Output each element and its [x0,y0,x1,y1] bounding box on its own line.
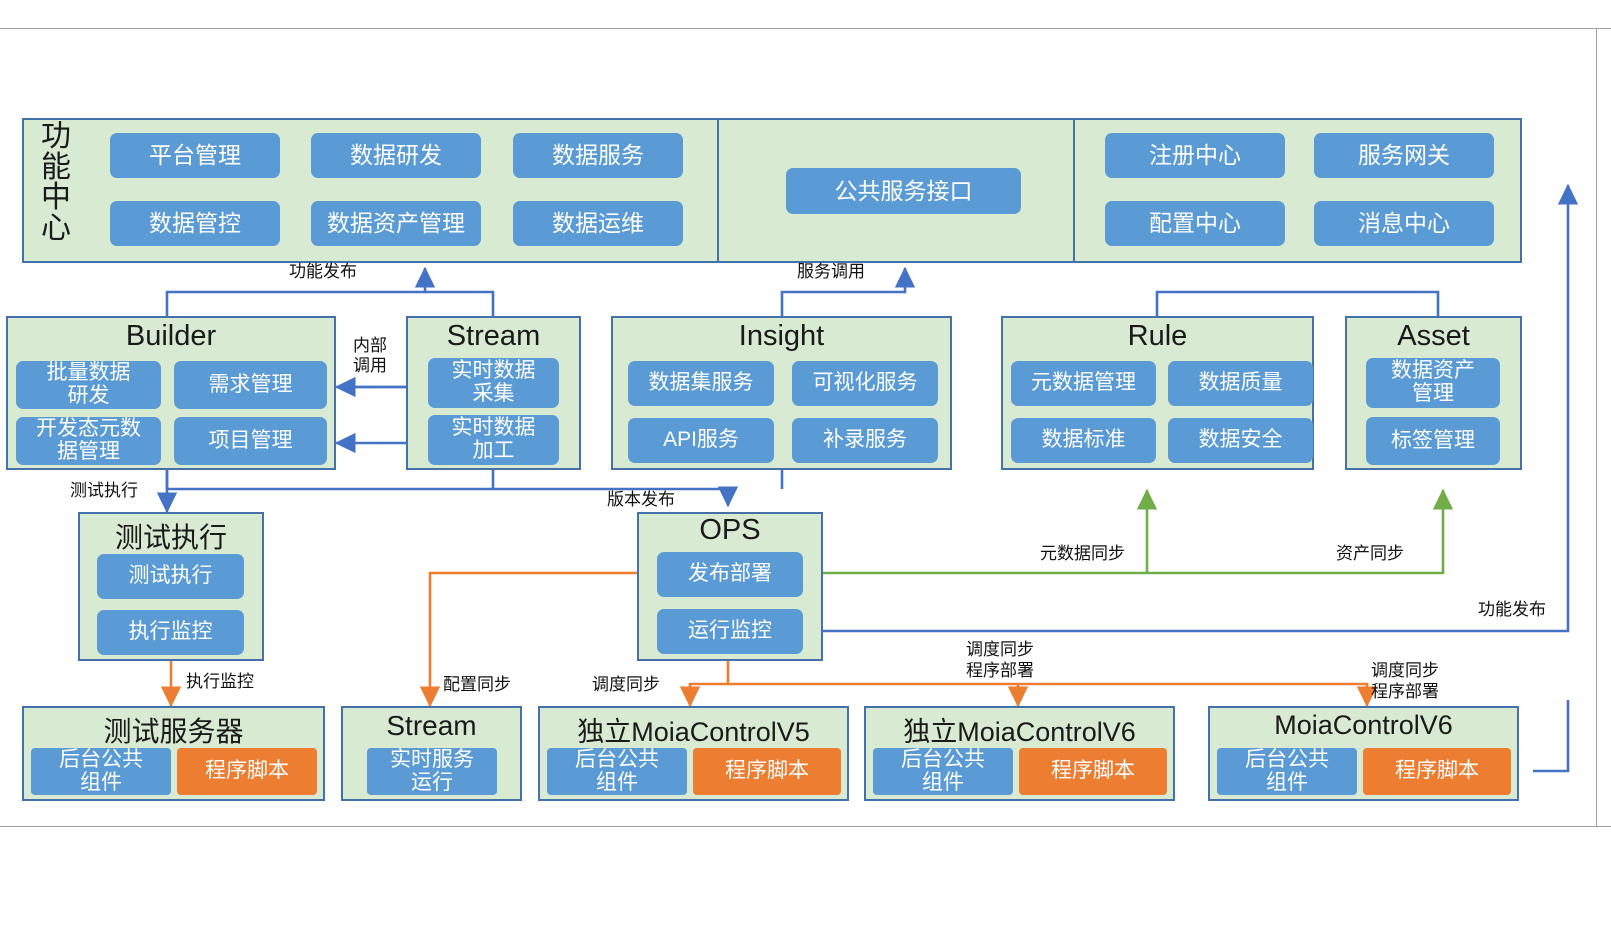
chip-service-gateway[interactable]: 服务网关 [1314,133,1494,178]
edge-label-metadata-sync: 元数据同步 [1040,544,1125,564]
edge-label-service-call: 服务调用 [797,262,865,282]
chip-batch-data-development[interactable]: 批量数据 研发 [16,361,161,409]
chip-program-script-4[interactable]: 程序脚本 [1363,748,1511,795]
chip-execution-monitor[interactable]: 执行监控 [97,610,244,655]
edge-label-schedule-sync-deploy: 调度同步 程序部署 [966,639,1034,682]
edge-label-internal-call: 内部 调用 [341,336,399,376]
chip-data-service[interactable]: 数据服务 [513,133,683,178]
module-insight-title: Insight [611,320,952,353]
chip-data-control[interactable]: 数据管控 [110,201,280,246]
chip-project-management[interactable]: 项目管理 [174,417,327,465]
chip-data-asset-mgmt[interactable]: 数据资产 管理 [1366,358,1500,408]
edge-label-function-publish-right: 功能发布 [1478,600,1546,620]
chip-data-security[interactable]: 数据安全 [1168,418,1313,463]
chip-dev-metadata-management[interactable]: 开发态元数 据管理 [16,417,161,465]
module-stream-title: Stream [406,320,581,353]
chip-requirement-management[interactable]: 需求管理 [174,361,327,409]
module-test-execution-title: 测试执行 [78,516,264,556]
server-stream-title: Stream [341,710,522,742]
chip-realtime-data-processing[interactable]: 实时数据 加工 [428,415,559,465]
function-center-divider-1 [717,120,719,261]
chip-test-execution[interactable]: 测试执行 [97,554,244,599]
chip-dataset-service[interactable]: 数据集服务 [628,361,774,406]
chip-supplement-service[interactable]: 补录服务 [792,418,938,463]
edge-label-schedule-sync: 调度同步 [592,675,660,695]
function-center-title: 功能中心 [33,122,79,244]
chip-program-script-1[interactable]: 程序脚本 [177,748,317,795]
module-asset-title: Asset [1345,320,1522,353]
module-ops-title: OPS [637,514,823,547]
chip-data-operations[interactable]: 数据运维 [513,201,683,246]
chip-program-script-3[interactable]: 程序脚本 [1019,748,1167,795]
chip-config-center[interactable]: 配置中心 [1105,201,1285,246]
chip-tag-management[interactable]: 标签管理 [1366,417,1500,465]
chip-backend-common-component-1[interactable]: 后台公共 组件 [31,748,171,795]
chip-program-script-2[interactable]: 程序脚本 [693,748,841,795]
chip-data-standard[interactable]: 数据标准 [1011,418,1156,463]
chip-public-service-interface[interactable]: 公共服务接口 [786,168,1021,214]
frame-right-line [1596,28,1597,826]
server-test-server-title: 测试服务器 [22,710,325,750]
chip-data-asset-management[interactable]: 数据资产管理 [311,201,481,246]
chip-backend-common-component-2[interactable]: 后台公共 组件 [547,748,687,795]
chip-platform-management[interactable]: 平台管理 [110,133,280,178]
chip-realtime-data-collection[interactable]: 实时数据 采集 [428,358,559,408]
edge-label-schedule-sync-deploy-2: 调度同步 程序部署 [1371,660,1439,703]
module-builder-title: Builder [6,320,336,353]
frame-top-line [0,28,1611,29]
edge-label-execute-monitor: 执行监控 [186,672,254,692]
function-center-divider-2 [1073,120,1075,261]
chip-visualization-service[interactable]: 可视化服务 [792,361,938,406]
chip-api-service[interactable]: API服务 [628,418,774,463]
module-rule-title: Rule [1001,320,1314,353]
frame-bottom-line [0,826,1611,827]
chip-backend-common-component-4[interactable]: 后台公共 组件 [1217,748,1357,795]
chip-runtime-monitor[interactable]: 运行监控 [657,609,803,654]
chip-registry-center[interactable]: 注册中心 [1105,133,1285,178]
chip-data-development[interactable]: 数据研发 [311,133,481,178]
edge-label-function-publish-top: 功能发布 [289,262,357,282]
chip-message-center[interactable]: 消息中心 [1314,201,1494,246]
chip-data-quality[interactable]: 数据质量 [1168,361,1313,406]
server-moiacontrolv6-title: MoiaControlV6 [1208,710,1519,741]
chip-metadata-management[interactable]: 元数据管理 [1011,361,1156,406]
server-standalone-moiacontrolv6-title: 独立MoiaControlV6 [864,710,1175,749]
architecture-diagram: 功能中心 平台管理 数据研发 数据服务 数据管控 数据资产管理 数据运维 公共服… [0,0,1611,940]
server-standalone-moiacontrolv5-title: 独立MoiaControlV5 [538,710,849,749]
chip-backend-common-component-3[interactable]: 后台公共 组件 [873,748,1013,795]
chip-release-deploy[interactable]: 发布部署 [657,552,803,597]
edge-label-config-sync: 配置同步 [443,675,511,695]
edge-label-version-publish: 版本发布 [607,490,675,510]
edge-label-asset-sync: 资产同步 [1336,544,1404,564]
edge-label-test-execute: 测试执行 [70,481,138,501]
chip-realtime-service-running[interactable]: 实时服务 运行 [367,748,497,795]
